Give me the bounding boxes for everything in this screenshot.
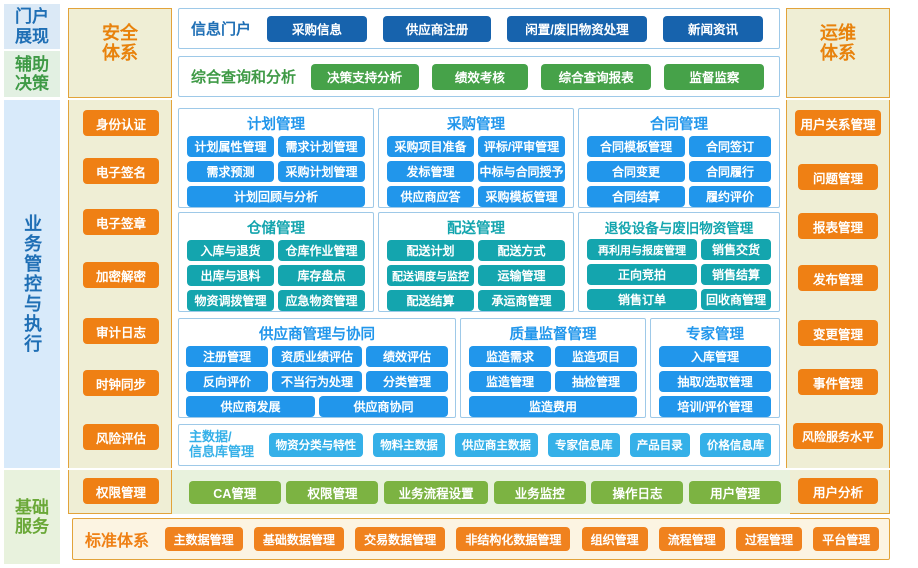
portal-item-supplier-registration[interactable]: 供应商注册 (383, 16, 491, 42)
stage-decision-line2: 决策 (15, 74, 49, 93)
item-supervision-project[interactable]: 监造项目 (555, 346, 637, 367)
master-data-label: 主数据/ 信息库管理 (185, 430, 267, 460)
master-data-items: 物资分类与特性 物料主数据 供应商主数据 专家信息库 产品目录 价格信息库 (267, 433, 773, 457)
portal-item-label: 新闻资讯 (688, 19, 738, 38)
item-reuse-scrap-mgmt[interactable]: 再利用与报废管理 (587, 239, 697, 260)
item-sales-delivery[interactable]: 销售交货 (701, 239, 771, 260)
item-outbound-material-return[interactable]: 出库与退料 (187, 265, 274, 286)
item-material-classification[interactable]: 物资分类与特性 (269, 433, 364, 457)
item-classification-mgmt[interactable]: 分类管理 (366, 371, 448, 392)
security-item-clock-sync[interactable]: 时钟同步 (83, 370, 159, 396)
security-item-label: 电子签章 (96, 213, 146, 232)
ops-item-risk-service-level[interactable]: 风险服务水平 (793, 423, 883, 449)
security-item-esignature[interactable]: 电子签名 (83, 158, 159, 184)
panel-title-query-analysis: 综合查询和分析 (179, 66, 296, 87)
std-item-organization-mgmt[interactable]: 组织管理 (582, 527, 648, 551)
master-data-label-line1: 主数据/ (189, 430, 267, 445)
item-supplier-development[interactable]: 供应商发展 (186, 396, 315, 417)
item-sampling-inspection-mgmt[interactable]: 抽检管理 (555, 371, 637, 392)
item-reverse-evaluation[interactable]: 反向评价 (186, 371, 268, 392)
basic-item-ca-mgmt[interactable]: CA管理 (189, 481, 281, 504)
security-item-label: 时钟同步 (96, 374, 146, 393)
card-items: 入库与退货 仓库作业管理 出库与退料 库存盘点 物资调拨管理 应急物资管理 (179, 240, 373, 316)
item-contract-signing[interactable]: 合同签订 (689, 136, 771, 157)
card-title: 仓储管理 (179, 213, 373, 240)
card-items: 监造需求 监造项目 监造管理 抽检管理 监造费用 (461, 346, 645, 422)
analysis-item-performance-review[interactable]: 绩效考核 (432, 64, 528, 90)
ops-item-label: 风险服务水平 (802, 428, 874, 445)
panel-title-information-portal: 信息门户 (179, 18, 251, 39)
item-material-master-data[interactable]: 物料主数据 (373, 433, 445, 457)
card-supplier-management: 供应商管理与协同 注册管理 资质业绩评估 绩效评估 反向评价 不当行为处理 分类… (178, 318, 456, 418)
basic-item-permission-mgmt[interactable]: 权限管理 (286, 481, 378, 504)
ops-item-label: 用户分析 (813, 482, 863, 501)
ops-item-label: 问题管理 (813, 168, 863, 187)
card-quality-supervision: 质量监督管理 监造需求 监造项目 监造管理 抽检管理 监造费用 (460, 318, 646, 418)
item-product-catalog[interactable]: 产品目录 (630, 433, 690, 457)
security-item-risk-assessment[interactable]: 风险评估 (83, 424, 159, 450)
item-supervision-fee[interactable]: 监造费用 (469, 396, 637, 417)
standard-system-title: 标准体系 (73, 527, 159, 551)
item-contract-change[interactable]: 合同变更 (587, 161, 685, 182)
item-performance-eval[interactable]: 绩效评估 (366, 346, 448, 367)
card-items: 再利用与报废管理 销售交货 正向竞拍 销售结算 销售订单 回收商管理 (579, 239, 779, 315)
ops-item-report-mgmt[interactable]: 报表管理 (798, 213, 878, 239)
ops-item-incident-mgmt[interactable]: 事件管理 (798, 369, 878, 395)
pillar-security-header: 安全 体系 (68, 8, 172, 98)
security-item-label: 权限管理 (96, 482, 146, 501)
card-procurement-management: 采购管理 采购项目准备 评标/评审管理 发标管理 中标与合同授予 供应商应答 采… (378, 108, 574, 208)
std-item-process-mgmt[interactable]: 流程管理 (659, 527, 725, 551)
item-warehouse-operation-mgmt[interactable]: 仓库作业管理 (278, 240, 365, 261)
item-forward-auction[interactable]: 正向竞拍 (587, 264, 697, 285)
basic-item-operation-log[interactable]: 操作日志 (591, 481, 683, 504)
ops-item-change-mgmt[interactable]: 变更管理 (798, 320, 878, 346)
item-sales-order[interactable]: 销售订单 (587, 289, 697, 310)
card-retired-equipment-management: 退役设备与废旧物资管理 再利用与报废管理 销售交货 正向竞拍 销售结算 销售订单… (578, 212, 780, 312)
analysis-item-query-report[interactable]: 综合查询报表 (541, 64, 651, 90)
item-distribution-plan[interactable]: 配送计划 (387, 240, 474, 261)
std-item-procedure-mgmt[interactable]: 过程管理 (736, 527, 802, 551)
stage-basic-line2: 服务 (15, 517, 49, 536)
stage-basic-line1: 基础 (15, 498, 49, 517)
item-qualification-performance-eval[interactable]: 资质业绩评估 (272, 346, 362, 367)
ops-item-label: 报表管理 (813, 217, 863, 236)
card-title: 供应商管理与协同 (179, 319, 455, 346)
card-distribution-management: 配送管理 配送计划 配送方式 配送调度与监控 运输管理 配送结算 承运商管理 (378, 212, 574, 312)
stage-label-decision: 辅助 决策 (4, 51, 60, 97)
item-supplier-collaboration[interactable]: 供应商协同 (319, 396, 448, 417)
card-contract-management: 合同管理 合同模板管理 合同签订 合同变更 合同履行 合同结算 履约评价 (578, 108, 780, 208)
card-items: 采购项目准备 评标/评审管理 发标管理 中标与合同授予 供应商应答 采购模板管理 (379, 136, 573, 212)
analysis-item-label: 综合查询报表 (559, 67, 634, 86)
item-supplier-master-data[interactable]: 供应商主数据 (455, 433, 538, 457)
item-supplier-response[interactable]: 供应商应答 (387, 186, 474, 207)
item-price-database[interactable]: 价格信息库 (700, 433, 772, 457)
ops-item-user-relationship[interactable]: 用户关系管理 (795, 110, 881, 136)
portal-item-label: 供应商注册 (406, 19, 469, 38)
item-distribution-method[interactable]: 配送方式 (478, 240, 565, 261)
basic-item-user-mgmt[interactable]: 用户管理 (689, 481, 781, 504)
pillar-ops-line2: 体系 (820, 43, 856, 63)
item-expert-database[interactable]: 专家信息库 (548, 433, 620, 457)
card-title: 计划管理 (179, 109, 373, 136)
stage-portal-line1: 门户 (15, 7, 49, 26)
card-items: 计划属性管理 需求计划管理 需求预测 采购计划管理 计划回顾与分析 (179, 136, 373, 212)
security-item-label: 电子签名 (96, 162, 146, 181)
item-transport-mgmt[interactable]: 运输管理 (478, 265, 565, 286)
card-items: 注册管理 资质业绩评估 绩效评估 反向评价 不当行为处理 分类管理 供应商发展 … (179, 346, 455, 422)
portal-item-label: 闲置/废旧物资处理 (525, 19, 628, 38)
item-expert-selection-mgmt[interactable]: 抽取/选取管理 (659, 371, 771, 392)
item-recycler-mgmt[interactable]: 回收商管理 (701, 289, 771, 310)
std-item-unstructured-data-mgmt[interactable]: 非结构化数据管理 (456, 527, 570, 551)
portal-item-label: 采购信息 (292, 19, 342, 38)
card-title: 退役设备与废旧物资管理 (579, 213, 779, 239)
portal-item-news[interactable]: 新闻资讯 (663, 16, 763, 42)
basic-item-business-monitoring[interactable]: 业务监控 (494, 481, 586, 504)
analysis-item-supervision[interactable]: 监督监察 (664, 64, 764, 90)
item-demand-plan-mgmt[interactable]: 需求计划管理 (278, 136, 365, 157)
item-expert-inbound-mgmt[interactable]: 入库管理 (659, 346, 771, 367)
stage-decision-line1: 辅助 (15, 55, 49, 74)
analysis-item-label: 决策支持分析 (327, 67, 402, 86)
security-item-eseal[interactable]: 电子签章 (83, 209, 159, 235)
card-warehouse-management: 仓储管理 入库与退货 仓库作业管理 出库与退料 库存盘点 物资调拨管理 应急物资… (178, 212, 374, 312)
item-contract-template-mgmt[interactable]: 合同模板管理 (587, 136, 685, 157)
item-supervision-mgmt[interactable]: 监造管理 (469, 371, 551, 392)
item-emergency-material-mgmt[interactable]: 应急物资管理 (278, 290, 365, 311)
item-procurement-plan-mgmt[interactable]: 采购计划管理 (278, 161, 365, 182)
ops-item-label: 变更管理 (813, 324, 863, 343)
pillar-ops-line1: 运维 (820, 23, 856, 43)
item-material-transfer-mgmt[interactable]: 物资调拨管理 (187, 290, 274, 311)
std-item-transaction-data-mgmt[interactable]: 交易数据管理 (355, 527, 445, 551)
ops-item-label: 用户关系管理 (800, 114, 875, 133)
card-title: 配送管理 (379, 213, 573, 240)
panel-query-analysis: 综合查询和分析 决策支持分析 绩效考核 综合查询报表 监督监察 (178, 56, 780, 97)
stage-portal-line2: 展现 (15, 27, 49, 46)
security-item-label: 身份认证 (96, 114, 146, 133)
item-expert-training-eval-mgmt[interactable]: 培训/评价管理 (659, 396, 771, 417)
ops-item-user-analytics[interactable]: 用户分析 (798, 478, 878, 504)
item-award-contract[interactable]: 中标与合同授予 (478, 161, 565, 182)
std-item-platform-mgmt[interactable]: 平台管理 (813, 527, 879, 551)
item-inbound-return[interactable]: 入库与退货 (187, 240, 274, 261)
item-bid-issue-mgmt[interactable]: 发标管理 (387, 161, 474, 182)
item-procurement-template-mgmt[interactable]: 采购模板管理 (478, 186, 565, 207)
portal-item-idle-waste-material[interactable]: 闲置/废旧物资处理 (507, 16, 647, 42)
security-item-permission-mgmt[interactable]: 权限管理 (83, 478, 159, 504)
ops-item-label: 事件管理 (813, 373, 863, 392)
security-item-identity-auth[interactable]: 身份认证 (83, 110, 159, 136)
item-contract-fulfillment-eval[interactable]: 履约评价 (689, 186, 771, 207)
item-contract-settlement[interactable]: 合同结算 (587, 186, 685, 207)
stage-label-business: 业务管控与执行 (4, 100, 60, 468)
item-sales-settlement[interactable]: 销售结算 (701, 264, 771, 285)
card-items: 入库管理 抽取/选取管理 培训/评价管理 (651, 346, 779, 422)
item-misconduct-handling[interactable]: 不当行为处理 (272, 371, 362, 392)
basic-item-workflow-setup[interactable]: 业务流程设置 (384, 481, 488, 504)
master-data-label-line2: 信息库管理 (189, 445, 267, 460)
item-bid-evaluation-mgmt[interactable]: 评标/评审管理 (478, 136, 565, 157)
ops-item-release-mgmt[interactable]: 发布管理 (798, 265, 878, 291)
item-plan-attribute-mgmt[interactable]: 计划属性管理 (187, 136, 274, 157)
card-items: 合同模板管理 合同签订 合同变更 合同履行 合同结算 履约评价 (579, 136, 779, 212)
stage-label-portal: 门户 展现 (4, 4, 60, 49)
portal-item-procurement-info[interactable]: 采购信息 (267, 16, 367, 42)
security-item-encryption[interactable]: 加密解密 (83, 262, 159, 288)
item-demand-forecast[interactable]: 需求预测 (187, 161, 274, 182)
pillar-security-line1: 安全 (102, 23, 138, 43)
card-title: 专家管理 (651, 319, 779, 346)
item-distribution-settlement[interactable]: 配送结算 (387, 290, 474, 311)
item-carrier-mgmt[interactable]: 承运商管理 (478, 290, 565, 311)
card-plan-management: 计划管理 计划属性管理 需求计划管理 需求预测 采购计划管理 计划回顾与分析 (178, 108, 374, 208)
item-procurement-project-prep[interactable]: 采购项目准备 (387, 136, 474, 157)
card-title: 合同管理 (579, 109, 779, 136)
stage-label-basic: 基础 服务 (4, 470, 60, 564)
security-item-audit-log[interactable]: 审计日志 (83, 318, 159, 344)
pillar-ops-header: 运维 体系 (786, 8, 890, 98)
ops-item-label: 发布管理 (813, 269, 863, 288)
basic-services-green-row: CA管理 权限管理 业务流程设置 业务监控 操作日志 用户管理 (172, 470, 790, 514)
ops-item-problem-mgmt[interactable]: 问题管理 (798, 164, 878, 190)
item-inventory-count[interactable]: 库存盘点 (278, 265, 365, 286)
security-item-label: 加密解密 (96, 266, 146, 285)
analysis-item-label: 监督监察 (689, 67, 739, 86)
card-title: 质量监督管理 (461, 319, 645, 346)
item-registration-mgmt[interactable]: 注册管理 (186, 346, 268, 367)
standard-system-row: 标准体系 主数据管理 基础数据管理 交易数据管理 非结构化数据管理 组织管理 流… (72, 518, 890, 560)
item-supervision-demand[interactable]: 监造需求 (469, 346, 551, 367)
std-item-basic-data-mgmt[interactable]: 基础数据管理 (254, 527, 344, 551)
architecture-diagram: 门户 展现 辅助 决策 业务管控与执行 基础 服务 安全 体系 身份认证 电子签… (0, 0, 918, 568)
card-title: 采购管理 (379, 109, 573, 136)
item-distribution-dispatch-monitor[interactable]: 配送调度与监控 (387, 265, 474, 286)
card-expert-management: 专家管理 入库管理 抽取/选取管理 培训/评价管理 (650, 318, 780, 418)
master-data-strip: 主数据/ 信息库管理 物资分类与特性 物料主数据 供应商主数据 专家信息库 产品… (178, 424, 780, 466)
analysis-item-label: 绩效考核 (455, 67, 505, 86)
security-item-label: 审计日志 (96, 322, 146, 341)
security-item-label: 风险评估 (96, 428, 146, 447)
stage-business-text: 业务管控与执行 (22, 214, 42, 354)
item-contract-performance[interactable]: 合同履行 (689, 161, 771, 182)
pillar-security-line2: 体系 (102, 43, 138, 63)
std-item-master-data-mgmt[interactable]: 主数据管理 (165, 527, 243, 551)
item-plan-review-analysis[interactable]: 计划回顾与分析 (187, 186, 365, 207)
analysis-item-decision-support[interactable]: 决策支持分析 (311, 64, 419, 90)
card-items: 配送计划 配送方式 配送调度与监控 运输管理 配送结算 承运商管理 (379, 240, 573, 316)
panel-information-portal: 信息门户 采购信息 供应商注册 闲置/废旧物资处理 新闻资讯 (178, 8, 780, 49)
